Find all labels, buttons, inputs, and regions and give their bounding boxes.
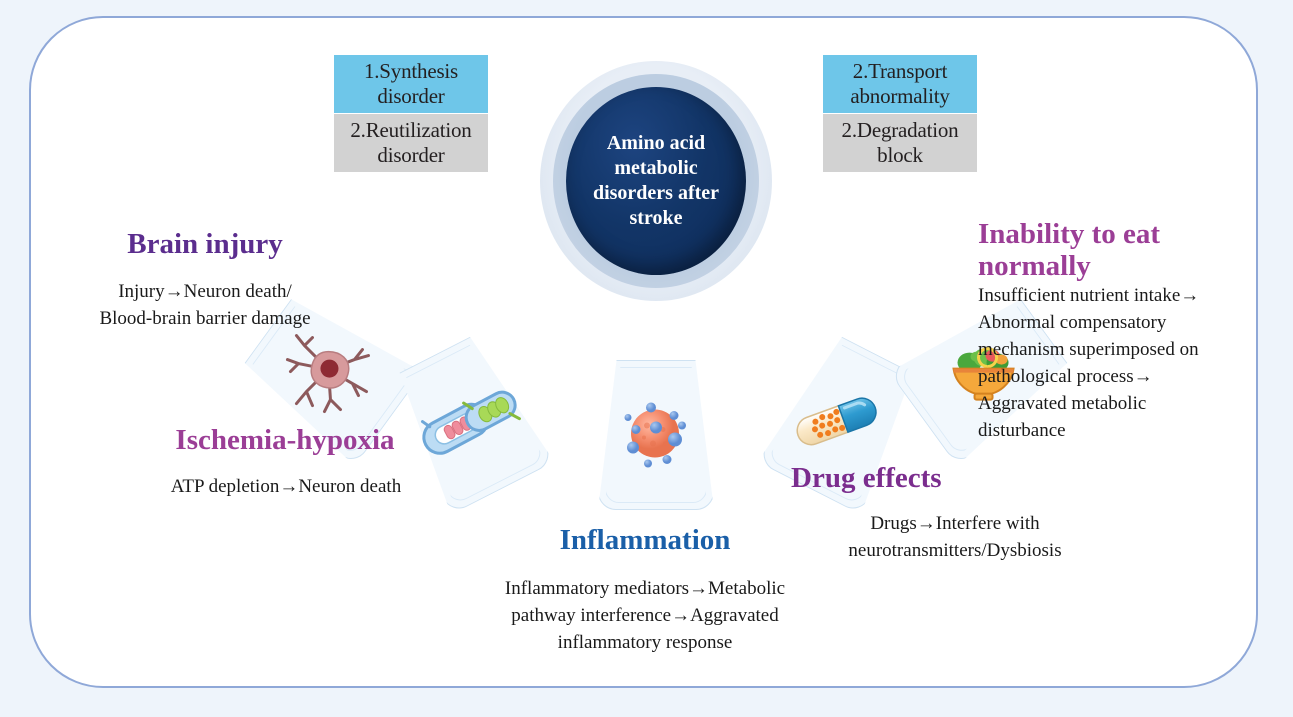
- heading-inability-to-eat-normally: Inability to eat normally: [978, 218, 1218, 283]
- petal-inflammation: [598, 360, 714, 510]
- body-inability-to-eat-normally: Insufficient nutrient intake→ Abnormal c…: [978, 282, 1268, 444]
- center-node: Amino acid metabolic disorders after str…: [540, 61, 772, 301]
- chip-degradation-block: 2.Degradation block: [823, 114, 977, 172]
- figure-canvas: 1.Synthesis disorder 2.Reutilization dis…: [0, 0, 1293, 717]
- heading-drug-effects: Drug effects: [791, 462, 1091, 494]
- chip-transport-abnormality: 2.Transport abnormality: [823, 55, 977, 113]
- center-title: Amino acid metabolic disorders after str…: [566, 131, 746, 231]
- chip-synthesis-disorder: 1.Synthesis disorder: [334, 55, 488, 113]
- capsule-pill-icon: [793, 389, 893, 454]
- heading-inflammation: Inflammation: [505, 524, 785, 556]
- inflamed-cell-icon: [611, 388, 701, 483]
- body-drug-effects: Drugs→Interfere with neurotransmitters/D…: [800, 510, 1110, 564]
- heading-ischemia-hypoxia: Ischemia-hypoxia: [130, 424, 440, 456]
- neuron-icon: [282, 330, 374, 421]
- body-ischemia-hypoxia: ATP depletion→Neuron death: [128, 473, 444, 500]
- body-inflammation: Inflammatory mediators→Metabolic pathway…: [455, 575, 835, 656]
- body-brain-injury: Injury→Neuron death/ Blood-brain barrier…: [46, 278, 364, 332]
- center-disc: Amino acid metabolic disorders after str…: [566, 87, 746, 275]
- chip-reutilization-disorder: 2.Reutilization disorder: [334, 114, 488, 172]
- heading-brain-injury: Brain injury: [60, 228, 350, 260]
